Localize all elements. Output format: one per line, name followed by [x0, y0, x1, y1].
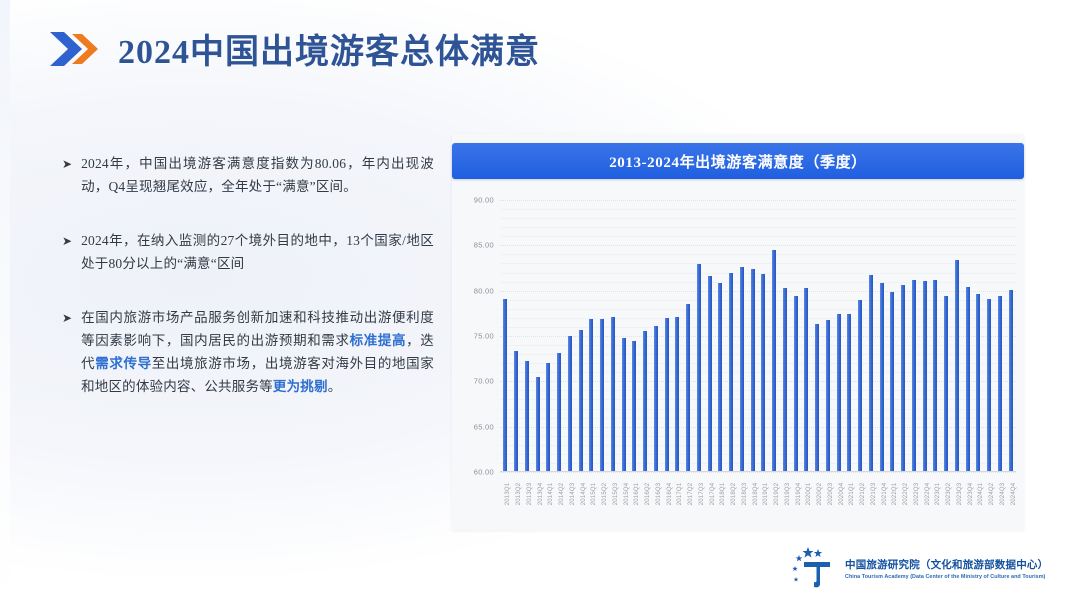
bar-slot[interactable] — [640, 200, 651, 472]
bar-slot[interactable] — [737, 200, 748, 472]
x-axis-tick: 2018Q2 — [726, 474, 737, 524]
x-axis-tick: 2020Q2 — [812, 474, 823, 524]
bar[interactable] — [546, 363, 550, 472]
bar[interactable] — [847, 314, 851, 472]
x-axis-tick: 2018Q1 — [715, 474, 726, 524]
footer-org-text: 中国旅游研究院（文化和旅游部数据中心） China Tourism Academ… — [845, 557, 1048, 580]
x-axis-tick: 2022Q4 — [919, 474, 930, 524]
bullet-marker-icon: ➤ — [62, 153, 72, 199]
bar-series — [500, 200, 1016, 472]
bar-slot[interactable] — [597, 200, 608, 472]
x-axis-tick: 2017Q3 — [694, 474, 705, 524]
bar[interactable] — [718, 283, 722, 472]
y-axis-tick-label: 85.00 — [474, 241, 494, 250]
footer-org-en: China Tourism Academy (Data Center of th… — [845, 574, 1048, 580]
bar[interactable] — [654, 326, 658, 472]
x-axis-tick: 2023Q1 — [930, 474, 941, 524]
bar[interactable] — [525, 361, 529, 472]
bar[interactable] — [944, 296, 948, 472]
x-axis-tick: 2015Q1 — [586, 474, 597, 524]
bar-slot[interactable] — [715, 200, 726, 472]
y-axis-labels: 90.0085.0080.0075.0070.0065.0060.00 — [452, 200, 498, 472]
bullet-segment: 。 — [328, 379, 342, 394]
gridline-major — [500, 472, 1016, 473]
bar[interactable] — [686, 304, 690, 472]
x-axis-tick: 2021Q3 — [866, 474, 877, 524]
bullet-list: ➤ 2024年，中国出境游客满意度指数为80.06，年内出现波动，Q4呈现翘尾效… — [62, 152, 434, 398]
bar[interactable] — [1009, 290, 1013, 472]
x-axis-line — [500, 471, 1016, 472]
bar-slot[interactable] — [930, 200, 941, 472]
bar-slot[interactable] — [801, 200, 812, 472]
bar[interactable] — [976, 294, 980, 472]
bar[interactable] — [815, 324, 819, 472]
x-axis-tick: 2015Q4 — [618, 474, 629, 524]
bar[interactable] — [772, 250, 776, 472]
bar-slot[interactable] — [575, 200, 586, 472]
bar-slot[interactable] — [898, 200, 909, 472]
bar-slot[interactable] — [790, 200, 801, 472]
x-axis-tick: 2022Q2 — [898, 474, 909, 524]
y-axis-tick-label: 90.00 — [474, 196, 494, 205]
bar-slot[interactable] — [543, 200, 554, 472]
x-axis-tick: 2016Q4 — [661, 474, 672, 524]
page-title: 2024中国出境游客总体满意 — [118, 24, 540, 73]
chart-plot-area: 90.0085.0080.0075.0070.0065.0060.00 2013… — [452, 186, 1024, 530]
bar[interactable] — [880, 283, 884, 472]
y-axis-tick-label: 70.00 — [474, 377, 494, 386]
bar-slot[interactable] — [511, 200, 522, 472]
x-axis-tick: 2018Q3 — [737, 474, 748, 524]
bar-slot[interactable] — [747, 200, 758, 472]
bar[interactable] — [643, 331, 647, 472]
bar[interactable] — [912, 280, 916, 472]
list-item: ➤ 在国内旅游市场产品服务创新加速和科技推动出游便利度等因素影响下，国内居民的出… — [62, 306, 434, 398]
bar-slot[interactable] — [1005, 200, 1016, 472]
bullet-highlight: 更为挑剔 — [273, 379, 328, 394]
x-axis-tick: 2013Q3 — [522, 474, 533, 524]
x-axis-tick: 2022Q1 — [887, 474, 898, 524]
footer-branding: 中国旅游研究院（文化和旅游部数据中心） China Tourism Academ… — [790, 546, 1048, 590]
x-axis-tick: 2021Q4 — [876, 474, 887, 524]
y-axis-tick-label: 80.00 — [474, 286, 494, 295]
bar-slot[interactable] — [952, 200, 963, 472]
bar-slot[interactable] — [833, 200, 844, 472]
bar-slot[interactable] — [629, 200, 640, 472]
y-axis-tick-label: 75.00 — [474, 332, 494, 341]
bar[interactable] — [729, 273, 733, 472]
bar-slot[interactable] — [844, 200, 855, 472]
x-axis-tick: 2019Q2 — [769, 474, 780, 524]
bar-slot[interactable] — [780, 200, 791, 472]
bar-slot[interactable] — [565, 200, 576, 472]
bar-slot[interactable] — [694, 200, 705, 472]
bar-slot[interactable] — [984, 200, 995, 472]
bar[interactable] — [600, 319, 604, 472]
bullet-segment: 2024年，在纳入监测的27个境外目的地中，13个国家/地区处于80分以上的“满… — [81, 233, 434, 271]
x-axis-tick: 2018Q4 — [747, 474, 758, 524]
plot-canvas — [500, 200, 1016, 472]
x-axis-tick: 2016Q2 — [640, 474, 651, 524]
x-axis-tick: 2014Q2 — [554, 474, 565, 524]
bar-slot[interactable] — [866, 200, 877, 472]
x-axis-tick: 2024Q3 — [995, 474, 1006, 524]
x-axis-tick: 2013Q4 — [532, 474, 543, 524]
x-axis-tick: 2016Q1 — [629, 474, 640, 524]
bar[interactable] — [697, 264, 701, 472]
bullet-highlight: 标准提高 — [350, 333, 407, 348]
x-axis-tick: 2017Q1 — [672, 474, 683, 524]
bar-slot[interactable] — [812, 200, 823, 472]
bar[interactable] — [966, 287, 970, 472]
bar[interactable] — [675, 317, 679, 472]
x-axis-tick: 2020Q4 — [833, 474, 844, 524]
bar[interactable] — [987, 299, 991, 472]
bar-slot[interactable] — [672, 200, 683, 472]
bar[interactable] — [708, 276, 712, 472]
x-axis-tick: 2020Q3 — [823, 474, 834, 524]
bar[interactable] — [923, 281, 927, 472]
x-axis-tick: 2014Q4 — [575, 474, 586, 524]
x-axis-tick: 2024Q4 — [1005, 474, 1016, 524]
x-axis-tick: 2024Q1 — [973, 474, 984, 524]
bar[interactable] — [933, 280, 937, 472]
x-axis-tick: 2023Q2 — [941, 474, 952, 524]
bar-slot[interactable] — [522, 200, 533, 472]
bar[interactable] — [514, 351, 518, 472]
bullet-text-1: 2024年，中国出境游客满意度指数为80.06，年内出现波动，Q4呈现翘尾效应，… — [81, 152, 434, 198]
x-axis-tick: 2013Q2 — [511, 474, 522, 524]
x-axis-tick: 2013Q1 — [500, 474, 511, 524]
bar[interactable] — [536, 377, 540, 472]
bar-slot[interactable] — [704, 200, 715, 472]
bullet-highlight: 需求传导 — [95, 356, 152, 371]
x-axis-tick: 2019Q1 — [758, 474, 769, 524]
bar[interactable] — [632, 341, 636, 472]
x-axis-tick: 2023Q4 — [962, 474, 973, 524]
list-item: ➤ 2024年，在纳入监测的27个境外目的地中，13个国家/地区处于80分以上的… — [62, 229, 434, 275]
bullet-segment: 2024年，中国出境游客满意度指数为80.06，年内出现波动，Q4呈现翘尾效应，… — [81, 156, 434, 194]
bar-slot[interactable] — [823, 200, 834, 472]
bar-slot[interactable] — [683, 200, 694, 472]
bar[interactable] — [783, 288, 787, 472]
bar[interactable] — [665, 318, 669, 472]
bar[interactable] — [579, 330, 583, 472]
bar[interactable] — [837, 314, 841, 472]
bar-slot[interactable] — [608, 200, 619, 472]
x-axis-tick: 2014Q3 — [565, 474, 576, 524]
bar[interactable] — [869, 275, 873, 472]
x-axis-tick: 2022Q3 — [909, 474, 920, 524]
slide-left-edge-accent — [0, 0, 10, 608]
x-axis-tick: 2021Q2 — [855, 474, 866, 524]
bar-slot[interactable] — [758, 200, 769, 472]
x-axis-tick: 2023Q3 — [952, 474, 963, 524]
bar-slot[interactable] — [909, 200, 920, 472]
bullet-marker-icon: ➤ — [62, 230, 72, 276]
x-axis-tick: 2019Q3 — [780, 474, 791, 524]
bar-slot[interactable] — [919, 200, 930, 472]
x-axis-tick: 2017Q4 — [704, 474, 715, 524]
chart-header-bar: 2013-2024年出境游客满意度（季度） — [452, 143, 1024, 179]
bar-slot[interactable] — [586, 200, 597, 472]
x-axis-tick: 2014Q1 — [543, 474, 554, 524]
y-axis-tick-label: 60.00 — [474, 468, 494, 477]
bar[interactable] — [761, 274, 765, 472]
slide-title-row: 2024中国出境游客总体满意 — [48, 24, 540, 73]
x-axis-tick: 2017Q2 — [683, 474, 694, 524]
bullet-marker-icon: ➤ — [62, 307, 72, 399]
bar-slot[interactable] — [726, 200, 737, 472]
bullet-text-3: 在国内旅游市场产品服务创新加速和科技推动出游便利度等因素影响下，国内居民的出游预… — [81, 306, 434, 398]
bar-slot[interactable] — [532, 200, 543, 472]
bar-slot[interactable] — [973, 200, 984, 472]
footer-org-cn: 中国旅游研究院（文化和旅游部数据中心） — [845, 557, 1048, 572]
x-axis-labels: 2013Q12013Q22013Q32013Q42014Q12014Q22014… — [500, 474, 1016, 524]
china-tourism-academy-logo-icon — [790, 546, 836, 590]
bar[interactable] — [568, 336, 572, 472]
chart-card: 2013-2024年出境游客满意度（季度） 90.0085.0080.0075.… — [452, 134, 1024, 530]
bar-slot[interactable] — [661, 200, 672, 472]
chart-title: 2013-2024年出境游客满意度（季度） — [609, 151, 867, 172]
x-axis-tick: 2019Q4 — [790, 474, 801, 524]
bar[interactable] — [622, 338, 626, 472]
bullet-text-2: 2024年，在纳入监测的27个境外目的地中，13个国家/地区处于80分以上的“满… — [81, 229, 434, 275]
double-chevron-icon — [48, 28, 104, 70]
bar-slot[interactable] — [769, 200, 780, 472]
list-item: ➤ 2024年，中国出境游客满意度指数为80.06，年内出现波动，Q4呈现翘尾效… — [62, 152, 434, 198]
x-axis-tick: 2020Q1 — [801, 474, 812, 524]
bar[interactable] — [890, 292, 894, 472]
x-axis-tick: 2016Q3 — [651, 474, 662, 524]
bar[interactable] — [503, 299, 507, 472]
x-axis-tick: 2015Q2 — [597, 474, 608, 524]
x-axis-tick: 2015Q3 — [608, 474, 619, 524]
bar[interactable] — [589, 319, 593, 472]
bar[interactable] — [955, 260, 959, 472]
bar-slot[interactable] — [995, 200, 1006, 472]
bar-slot[interactable] — [500, 200, 511, 472]
x-axis-tick: 2024Q2 — [984, 474, 995, 524]
bar-slot[interactable] — [941, 200, 952, 472]
bar-slot[interactable] — [855, 200, 866, 472]
bar-slot[interactable] — [651, 200, 662, 472]
bar[interactable] — [826, 320, 830, 472]
bar[interactable] — [611, 317, 615, 472]
bar-slot[interactable] — [554, 200, 565, 472]
bar-slot[interactable] — [962, 200, 973, 472]
bar[interactable] — [858, 300, 862, 472]
x-axis-tick: 2021Q1 — [844, 474, 855, 524]
bar[interactable] — [794, 296, 798, 472]
x-axis-tick-label: 2024Q4 — [1011, 483, 1017, 506]
bar[interactable] — [740, 267, 744, 472]
bar[interactable] — [901, 285, 905, 472]
bar[interactable] — [557, 353, 561, 472]
bar[interactable] — [804, 288, 808, 472]
bar-slot[interactable] — [887, 200, 898, 472]
bar-slot[interactable] — [618, 200, 629, 472]
y-axis-tick-label: 65.00 — [474, 422, 494, 431]
bar-slot[interactable] — [876, 200, 887, 472]
bar[interactable] — [751, 269, 755, 472]
bar[interactable] — [998, 296, 1002, 472]
